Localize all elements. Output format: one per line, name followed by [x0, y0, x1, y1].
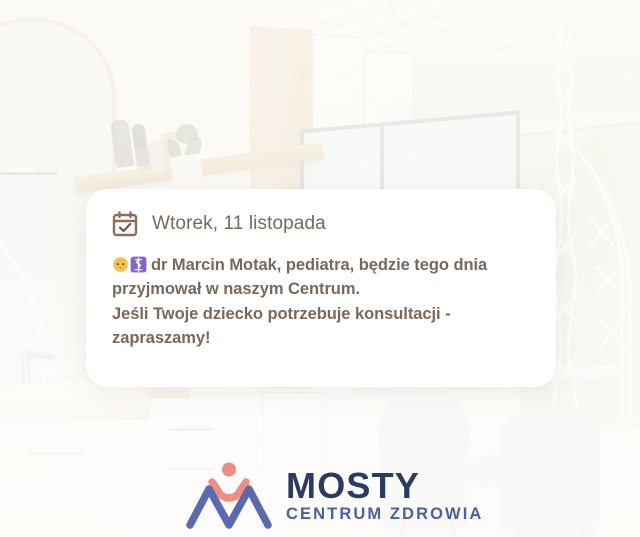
card-title: Wtorek, 11 listopada [152, 214, 326, 235]
logo-tagline: CENTRUM ZDROWIA [286, 506, 483, 523]
card-line-1: dr Marcin Motak, pediatra, będzie tego d… [151, 256, 487, 274]
card-header: Wtorek, 11 listopada [112, 211, 530, 237]
emoji-group [112, 253, 148, 277]
post-image: Wtorek, 11 listopada [0, 0, 640, 537]
card-body: dr Marcin Motak, pediatra, będzie tego d… [112, 253, 530, 351]
mirror-reflected-bridge-art-icon [0, 150, 76, 410]
mosty-bridge-person-mark-icon [186, 461, 272, 529]
medical-symbol-emoji [130, 256, 147, 273]
logo-name: MOSTY [286, 468, 483, 504]
calendar-check-icon [112, 211, 138, 237]
plant-pot [170, 153, 204, 191]
waiting-chair-right [500, 410, 600, 537]
logo-text-block: MOSTY CENTRUM ZDROWIA [286, 468, 483, 523]
card-line-4: zapraszamy! [112, 329, 211, 347]
cabinet-handle-1 [30, 452, 82, 455]
card-line-3: Jeśli Twoje dziecko potrzebuje konsultac… [112, 305, 451, 323]
corridor-cabinet-handle-1 [168, 428, 214, 431]
baby-face-emoji [112, 256, 129, 273]
brand-logo: MOSTY CENTRUM ZDROWIA [186, 461, 483, 529]
card-line-2: przyjmował w naszym Centrum. [112, 280, 360, 298]
message-card: Wtorek, 11 listopada [86, 189, 556, 387]
